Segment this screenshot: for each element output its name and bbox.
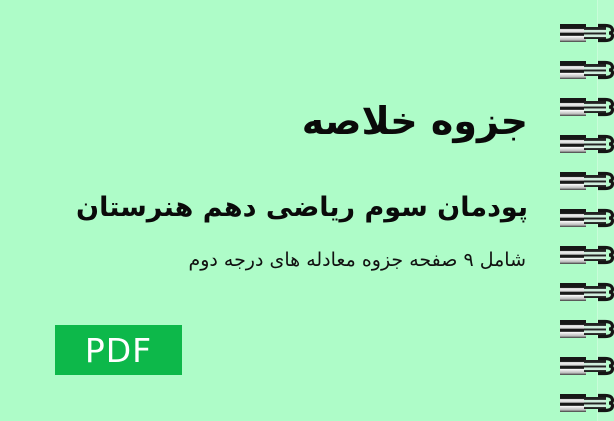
spiral-ring-hook-icon bbox=[598, 60, 614, 80]
spiral-ring-hook-icon bbox=[598, 393, 614, 413]
page-detail-text: شامل ۹ صفحه جزوه معادله های درجه دوم bbox=[188, 246, 526, 274]
spiral-ring-wire-icon bbox=[560, 357, 586, 375]
spiral-binding-ring bbox=[556, 133, 614, 155]
spiral-binding-ring bbox=[556, 170, 614, 192]
pdf-badge: PDF bbox=[55, 325, 182, 375]
spiral-ring-wire-icon bbox=[560, 283, 586, 301]
spiral-ring-hook-icon bbox=[598, 97, 614, 117]
spiral-ring-wire-icon bbox=[560, 246, 586, 264]
spiral-ring-hook-icon bbox=[598, 245, 614, 265]
spiral-binding-ring bbox=[556, 392, 614, 414]
spiral-binding-ring bbox=[556, 59, 614, 81]
spiral-binding-ring bbox=[556, 207, 614, 229]
poster-canvas: جزوه خلاصه پودمان سوم ریاضی دهم هنرستان … bbox=[0, 0, 614, 421]
spiral-ring-hook-icon bbox=[598, 134, 614, 154]
spiral-ring-hook-icon bbox=[598, 171, 614, 191]
spiral-binding bbox=[556, 0, 614, 421]
spiral-binding-ring bbox=[556, 355, 614, 377]
spiral-ring-wire-icon bbox=[560, 172, 586, 190]
spiral-binding-ring bbox=[556, 318, 614, 340]
spiral-binding-ring bbox=[556, 22, 614, 44]
spiral-ring-hook-icon bbox=[598, 356, 614, 376]
pdf-badge-label: PDF bbox=[85, 334, 152, 367]
spiral-binding-ring bbox=[556, 244, 614, 266]
spiral-binding-ring bbox=[556, 281, 614, 303]
spiral-ring-wire-icon bbox=[560, 209, 586, 227]
page-title: جزوه خلاصه bbox=[302, 98, 528, 144]
spiral-ring-wire-icon bbox=[560, 394, 586, 412]
spiral-ring-hook-icon bbox=[598, 23, 614, 43]
spiral-ring-hook-icon bbox=[598, 282, 614, 302]
page-subtitle: پودمان سوم ریاضی دهم هنرستان bbox=[76, 190, 528, 226]
spiral-ring-wire-icon bbox=[560, 98, 586, 116]
spiral-ring-hook-icon bbox=[598, 319, 614, 339]
spiral-ring-wire-icon bbox=[560, 61, 586, 79]
spiral-ring-wire-icon bbox=[560, 320, 586, 338]
spiral-binding-ring bbox=[556, 96, 614, 118]
spiral-ring-wire-icon bbox=[560, 135, 586, 153]
spiral-ring-wire-icon bbox=[560, 24, 586, 42]
spiral-ring-hook-icon bbox=[598, 208, 614, 228]
